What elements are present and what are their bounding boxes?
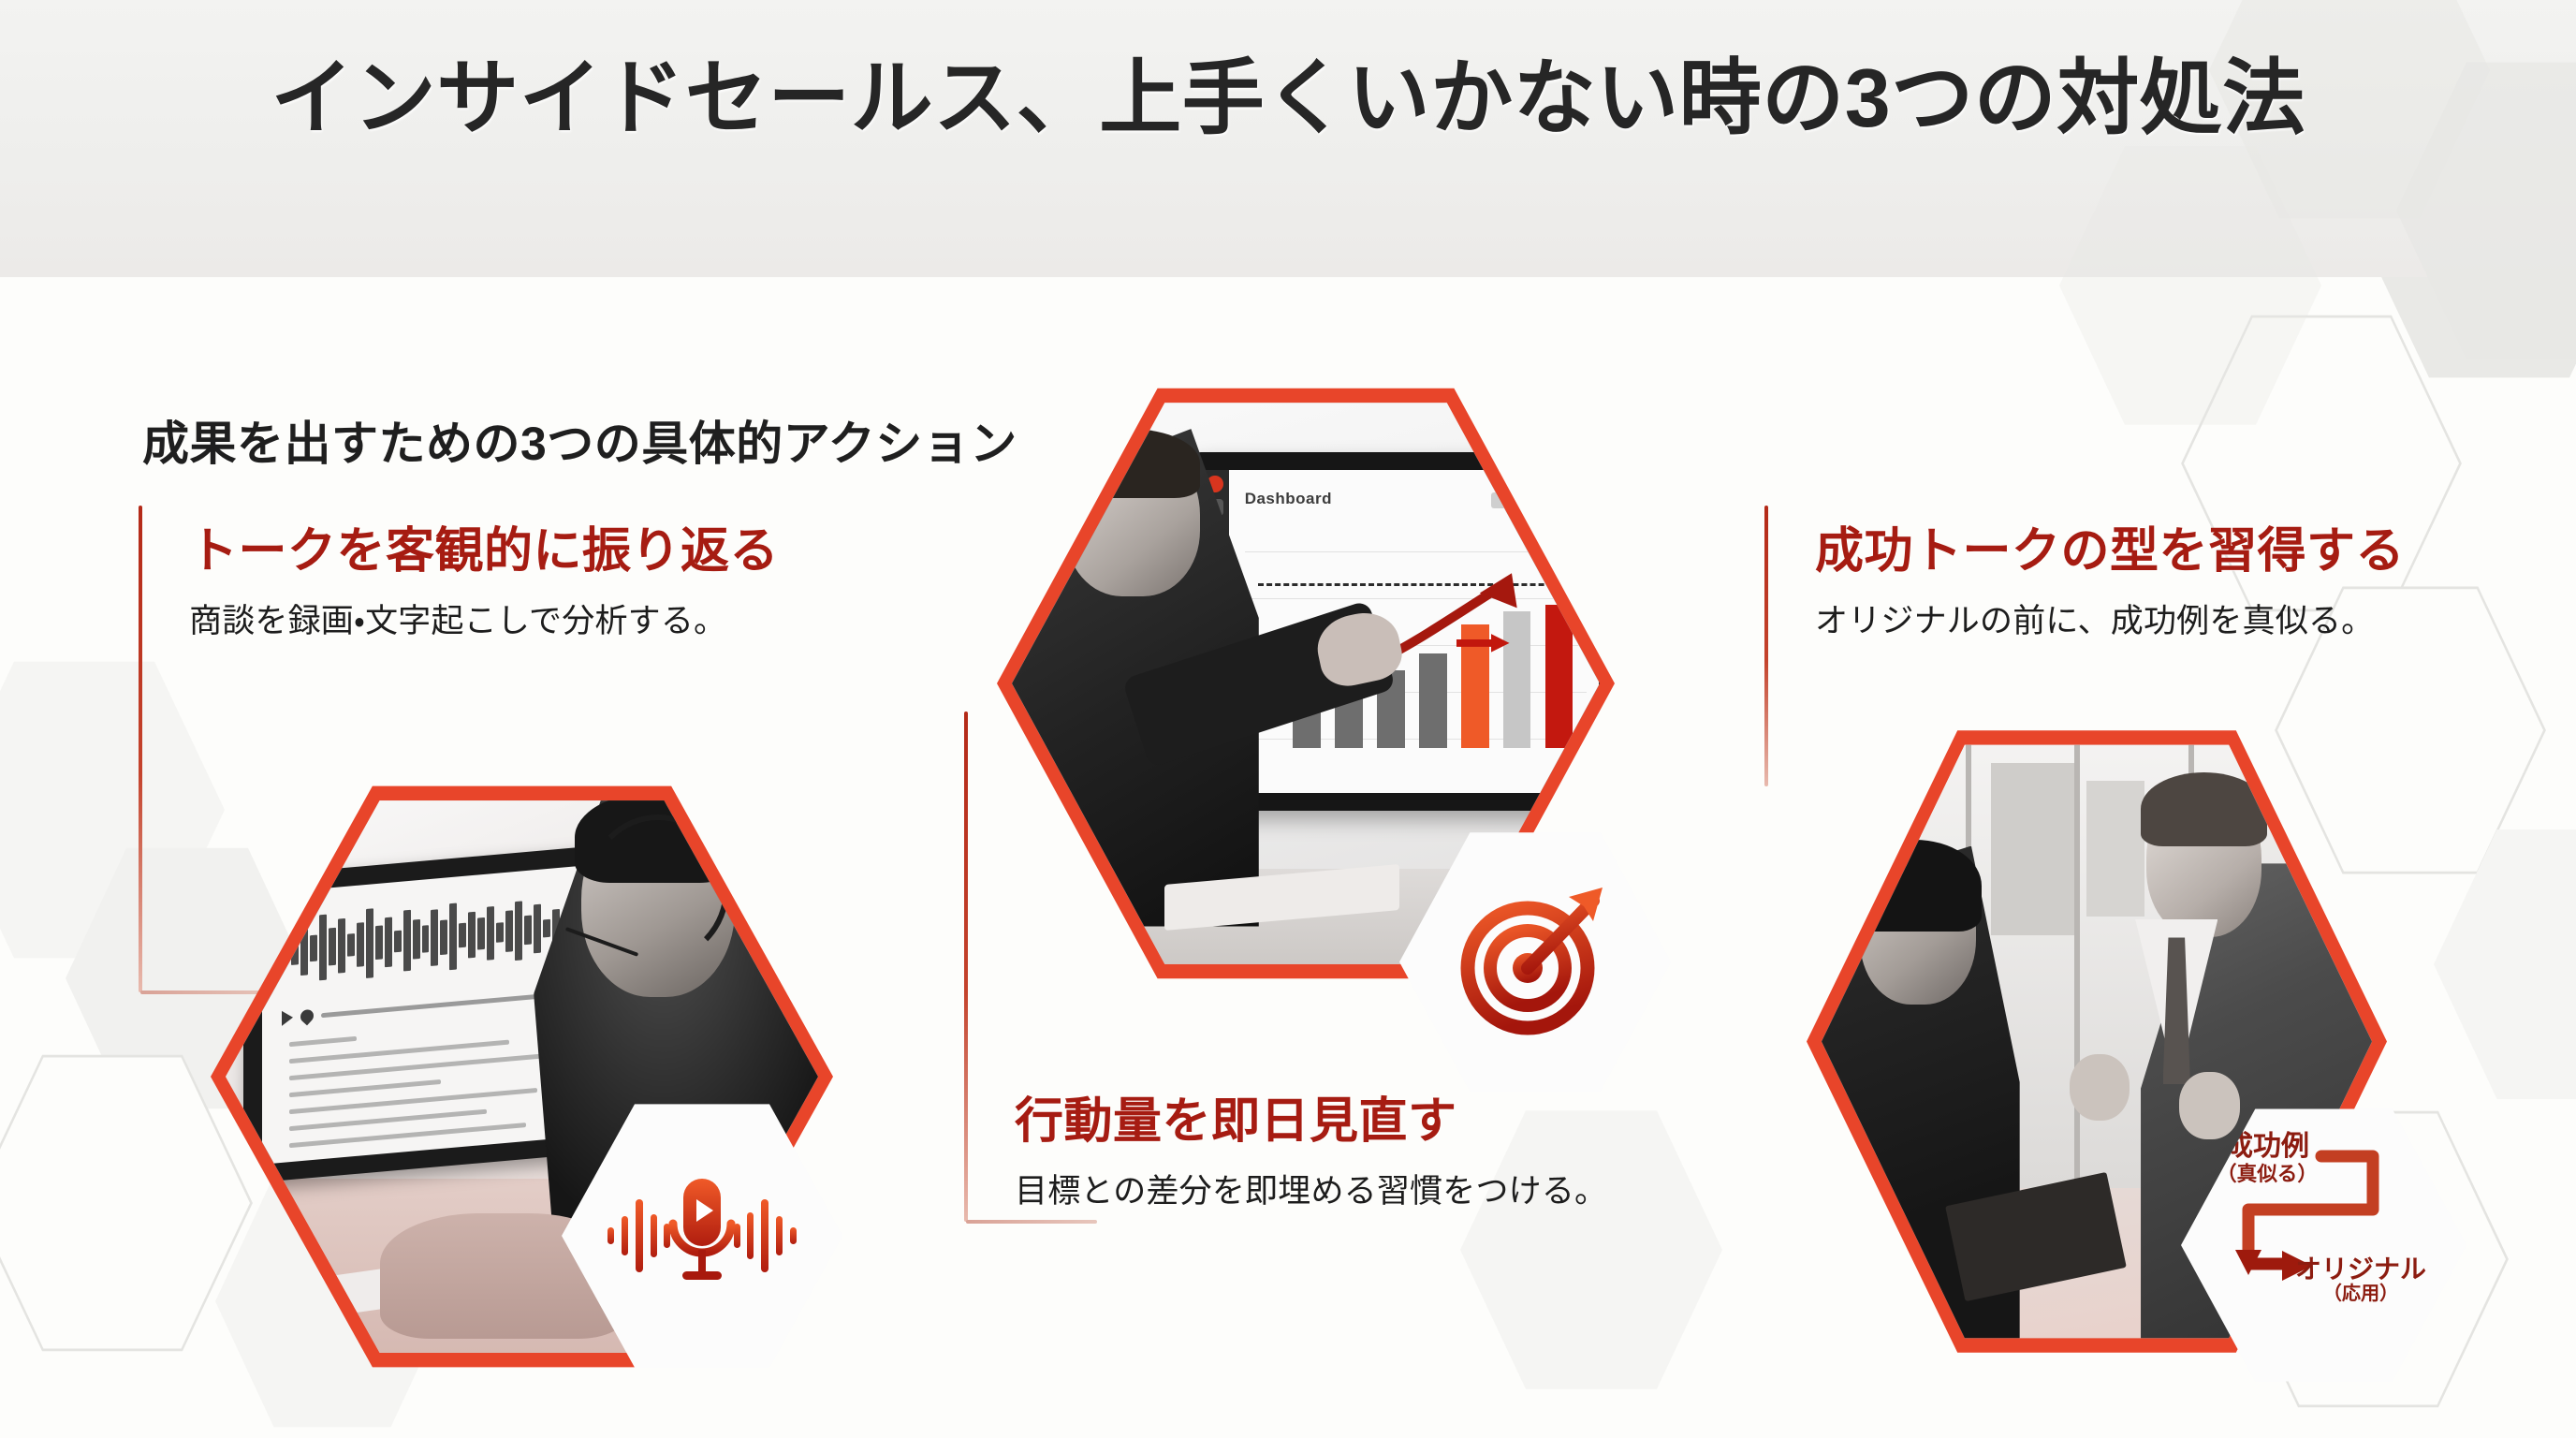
accent-rule-2 — [964, 712, 968, 1222]
action-title-2: 行動量を即日見直す — [1015, 1081, 1607, 1152]
action-desc-1: 商談を録画・文字起こしで分析する。 — [189, 594, 779, 642]
dashboard-label: Dashboard — [1245, 490, 1332, 508]
accent-rule-1 — [139, 506, 142, 992]
action-block-2: 行動量を即日見直す 目標との差分を即埋める習慣をつける。 — [964, 712, 1788, 1245]
section-subheading: 成果を出すための3つの具体的アクション — [142, 406, 1017, 474]
action-title-3: 成功トークの型を習得する — [1815, 511, 2405, 581]
accent-rule-foot-2 — [966, 1220, 1097, 1224]
action-desc-2: 目標との差分を即埋める習慣をつける。 — [1015, 1165, 1607, 1212]
page-title: インサイドセールス、上手くいかない時の3つの対処法 — [0, 32, 2576, 151]
microphone-waveform-icon — [604, 1166, 800, 1306]
slide-canvas: インサイドセールス、上手くいかない時の3つの対処法 成果を出すための3つの具体的… — [0, 0, 2576, 1438]
accent-rule-3 — [1764, 506, 1768, 786]
action-desc-3: オリジナルの前に、成功例を真似る。 — [1815, 594, 2405, 642]
shift-arrow-icon — [1456, 628, 1511, 658]
note-to-label: オリジナル （応用） — [2295, 1255, 2426, 1305]
target-arrow-icon — [1453, 882, 1617, 1043]
action-title-1: トークを客観的に振り返る — [189, 511, 779, 581]
